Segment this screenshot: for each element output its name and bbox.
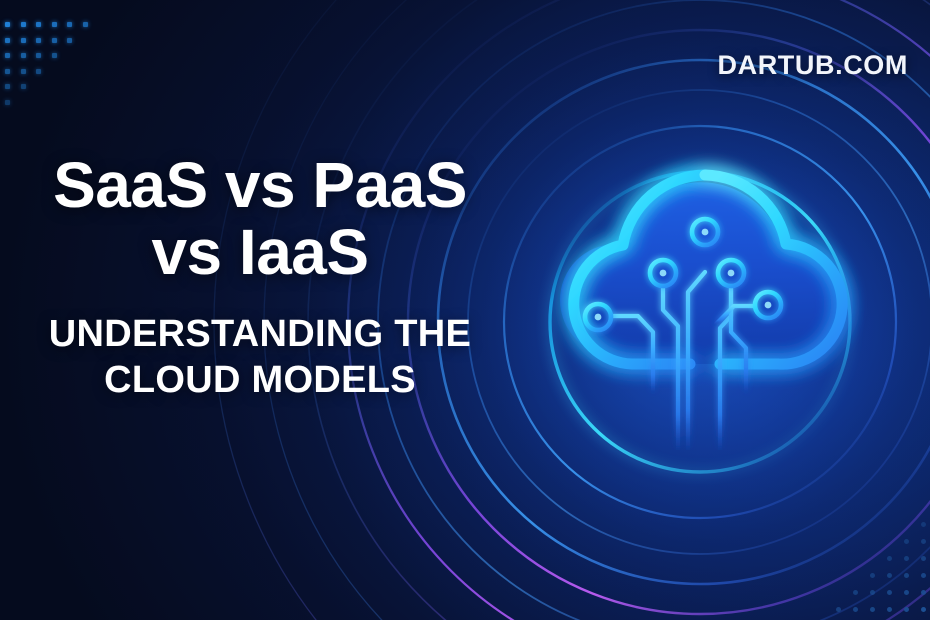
decorative-dot <box>21 53 26 58</box>
circuit-node <box>718 260 744 286</box>
decorative-dot <box>21 84 26 89</box>
decorative-dot <box>21 38 26 43</box>
decorative-dot <box>5 69 10 74</box>
decorative-dot <box>21 69 26 74</box>
headline-block: SaaS vs PaaS vs IaaS UNDERSTANDING THE C… <box>0 152 520 404</box>
cloud-circuit-icon <box>520 120 890 450</box>
decorative-dot <box>36 69 41 74</box>
decorative-dot <box>870 590 875 595</box>
decorative-dot <box>67 38 72 43</box>
decorative-dot <box>904 573 909 578</box>
decorative-dot <box>836 607 841 612</box>
circuit-node <box>585 304 611 330</box>
decorative-dot <box>904 607 909 612</box>
decorative-dot <box>921 607 926 612</box>
decorative-dot <box>52 38 57 43</box>
decorative-dot <box>870 573 875 578</box>
decorative-dot <box>5 84 10 89</box>
decorative-dot <box>36 22 41 27</box>
subtitle-line-1: UNDERSTANDING THE <box>0 311 520 357</box>
circuit-node <box>692 219 718 245</box>
decorative-dot <box>887 573 892 578</box>
decorative-dot <box>853 607 858 612</box>
decorative-dot <box>887 556 892 561</box>
decorative-dot <box>52 53 57 58</box>
decorative-dot <box>5 100 10 105</box>
decorative-dot <box>5 53 10 58</box>
decorative-dot <box>921 590 926 595</box>
decorative-dot <box>921 573 926 578</box>
decorative-dot <box>904 539 909 544</box>
page-subtitle: UNDERSTANDING THE CLOUD MODELS <box>0 311 520 404</box>
decorative-dot <box>36 53 41 58</box>
decorative-dot <box>921 522 926 527</box>
title-line-1: SaaS vs PaaS <box>0 152 520 219</box>
site-watermark: DARTUB.COM <box>718 50 908 81</box>
circuit-node <box>755 292 781 318</box>
decorative-dot <box>5 22 10 27</box>
decorative-dot <box>21 22 26 27</box>
decorative-dot <box>83 22 88 27</box>
decorative-dot <box>904 590 909 595</box>
decorative-dot <box>887 607 892 612</box>
decorative-dot <box>67 22 72 27</box>
decorative-dot <box>5 38 10 43</box>
decorative-dot <box>887 590 892 595</box>
decorative-dot <box>36 38 41 43</box>
decorative-dot <box>870 607 875 612</box>
circuit-node <box>650 260 676 286</box>
subtitle-line-2: CLOUD MODELS <box>0 357 520 403</box>
decorative-dot <box>921 539 926 544</box>
banner-canvas: SaaS vs PaaS vs IaaS UNDERSTANDING THE C… <box>0 0 930 620</box>
decorative-dot <box>904 556 909 561</box>
decorative-dot <box>52 22 57 27</box>
title-line-2: vs IaaS <box>0 219 520 286</box>
decorative-dot <box>853 590 858 595</box>
decorative-dot <box>921 556 926 561</box>
page-title: SaaS vs PaaS vs IaaS <box>0 152 520 285</box>
